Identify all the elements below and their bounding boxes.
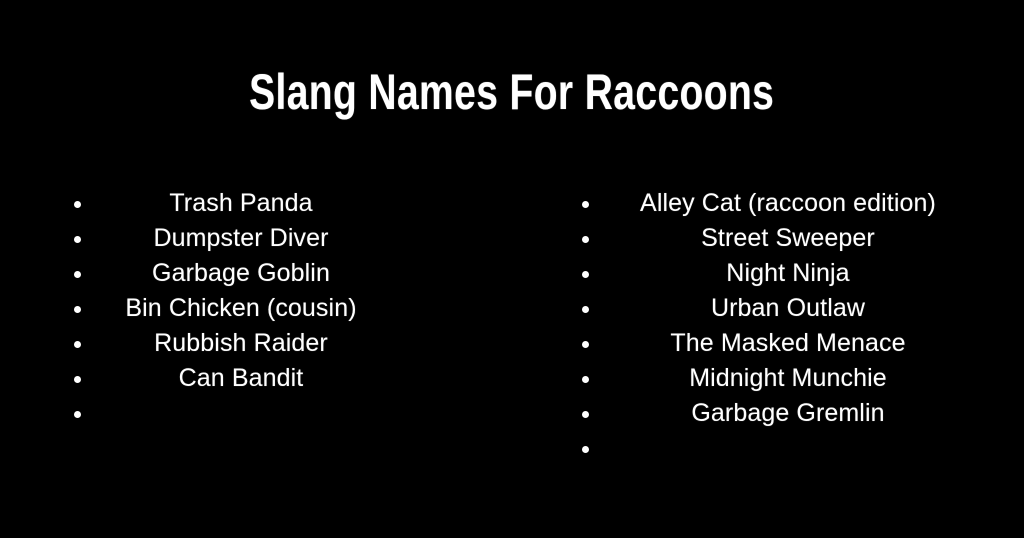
list-item: Trash Panda [92, 186, 390, 221]
title-container: Slang Names For Raccoons [0, 30, 1024, 153]
left-bullet-list: Trash Panda Dumpster Diver Garbage Gobli… [92, 186, 390, 431]
list-item: Garbage Gremlin [600, 396, 976, 431]
right-column: Alley Cat (raccoon edition) Street Sweep… [512, 186, 1024, 466]
bullet-columns: Trash Panda Dumpster Diver Garbage Gobli… [0, 186, 1024, 466]
list-item: Rubbish Raider [92, 326, 390, 361]
list-item-empty [600, 431, 976, 466]
list-item: Urban Outlaw [600, 291, 976, 326]
list-item: Midnight Munchie [600, 361, 976, 396]
list-item-empty [92, 396, 390, 431]
list-item: Dumpster Diver [92, 221, 390, 256]
list-item: Street Sweeper [600, 221, 976, 256]
right-bullet-list: Alley Cat (raccoon edition) Street Sweep… [600, 186, 976, 466]
list-item: Alley Cat (raccoon edition) [600, 186, 976, 221]
slide-canvas: Slang Names For Raccoons Trash Panda Dum… [0, 0, 1024, 538]
list-item: Night Ninja [600, 256, 976, 291]
list-item: Garbage Goblin [92, 256, 390, 291]
page-title: Slang Names For Raccoons [249, 64, 774, 120]
list-item: Can Bandit [92, 361, 390, 396]
list-item: Bin Chicken (cousin) [92, 291, 390, 326]
left-column: Trash Panda Dumpster Diver Garbage Gobli… [0, 186, 512, 431]
list-item: The Masked Menace [600, 326, 976, 361]
